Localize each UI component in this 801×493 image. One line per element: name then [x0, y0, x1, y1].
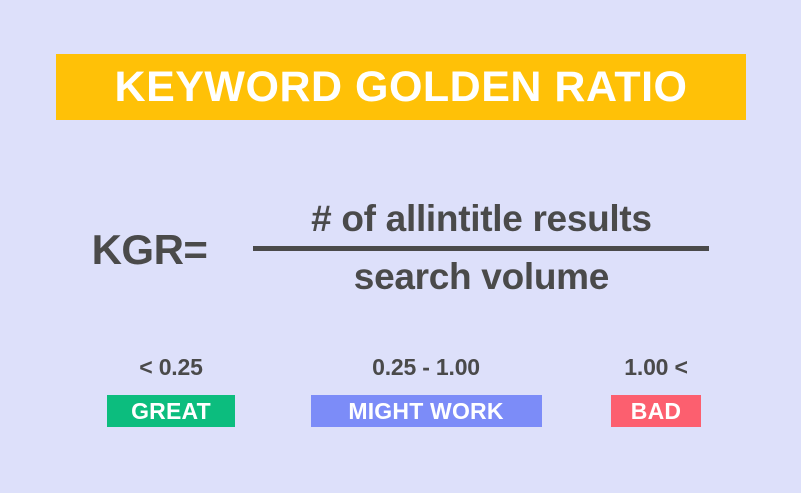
range-group-bad: 1.00 < BAD — [566, 356, 746, 427]
range-value-bad: 1.00 < — [624, 356, 687, 379]
formula-fraction: # of allintitle results search volume — [253, 199, 709, 297]
range-legend: < 0.25 GREAT 0.25 - 1.00 MIGHT WORK 1.00… — [56, 356, 746, 446]
status-badge-might-work: MIGHT WORK — [311, 395, 542, 427]
formula-left-hand-side: KGR= — [92, 229, 208, 271]
status-badge-great: GREAT — [107, 395, 235, 427]
range-group-might-work: 0.25 - 1.00 MIGHT WORK — [301, 356, 551, 427]
page-title: KEYWORD GOLDEN RATIO — [115, 66, 688, 109]
range-value-might-work: 0.25 - 1.00 — [372, 356, 480, 379]
formula-block: KGR= # of allintitle results search volu… — [0, 178, 801, 318]
kgr-infographic: KEYWORD GOLDEN RATIO KGR= # of allintitl… — [0, 0, 801, 493]
range-group-great: < 0.25 GREAT — [56, 356, 286, 427]
status-badge-bad: BAD — [611, 395, 701, 427]
fraction-denominator: search volume — [350, 251, 613, 298]
range-value-great: < 0.25 — [139, 356, 202, 379]
fraction-numerator: # of allintitle results — [307, 199, 656, 246]
title-banner: KEYWORD GOLDEN RATIO — [56, 54, 746, 120]
